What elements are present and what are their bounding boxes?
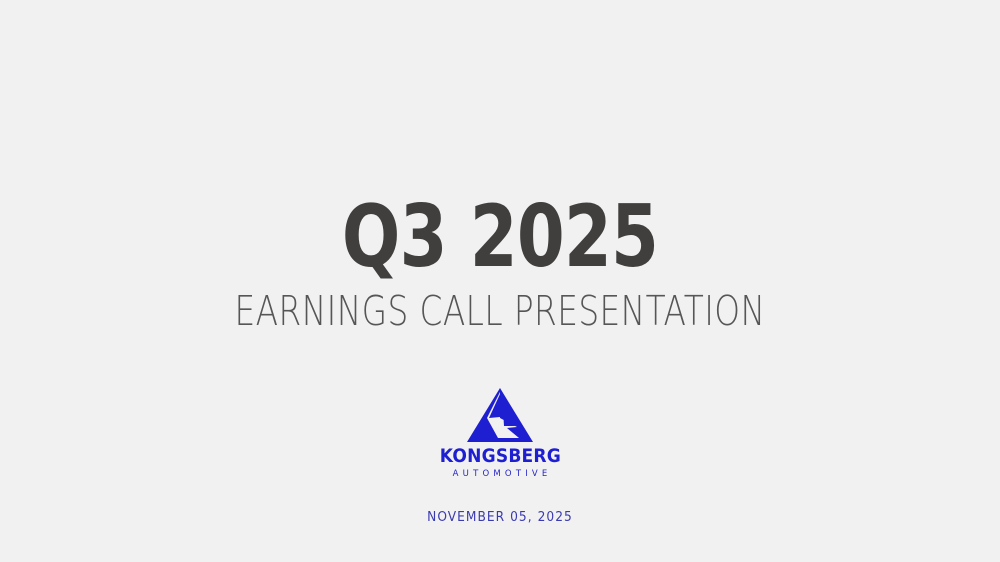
- presentation-date: NOVEMBER 05, 2025: [30, 511, 970, 524]
- company-logo: KONGSBERG AUTOMOTIVE: [405, 388, 595, 479]
- logo-tagline: AUTOMOTIVE: [448, 470, 551, 479]
- kongsberg-triangle-icon: [467, 388, 533, 442]
- page-subtitle: EARNINGS CALL PRESENTATION: [100, 291, 900, 332]
- title-slide: Q3 2025 EARNINGS CALL PRESENTATION KONGS…: [0, 0, 1000, 562]
- title-block: Q3 2025 EARNINGS CALL PRESENTATION: [0, 196, 1000, 332]
- logo-wordmark: KONGSBERG: [439, 447, 560, 466]
- page-title: Q3 2025: [100, 196, 900, 279]
